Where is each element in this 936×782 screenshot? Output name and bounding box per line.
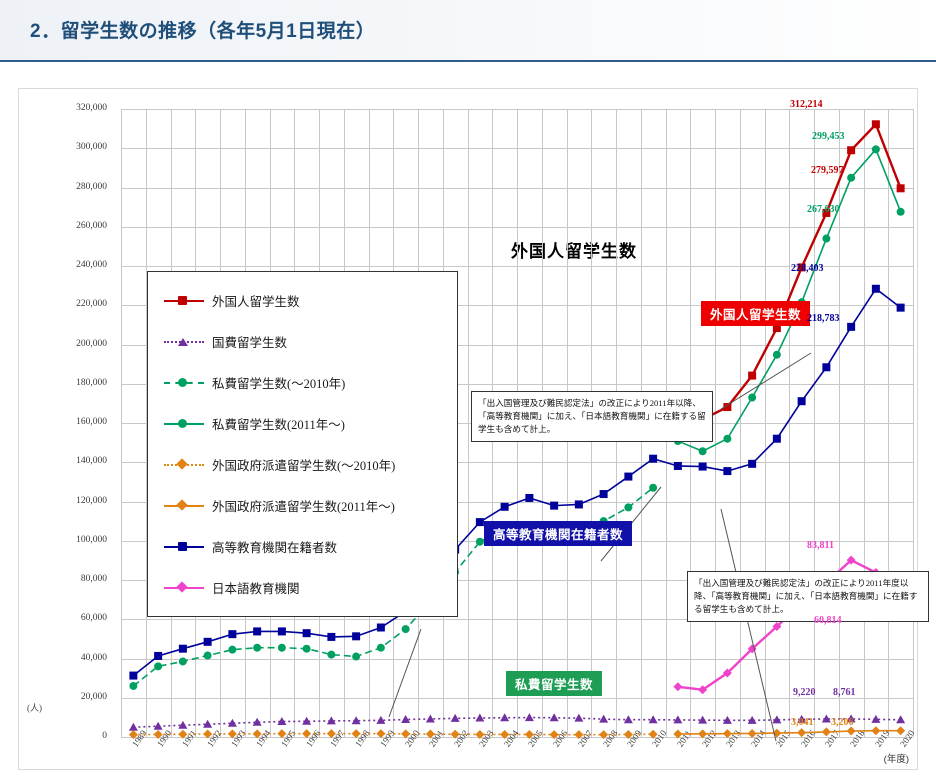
y-axis-tick-label: 120,000 <box>27 496 107 506</box>
data-point-marker <box>327 651 335 659</box>
data-point-marker <box>723 435 731 443</box>
data-point-marker <box>872 120 880 128</box>
value-label-0: 312,214 <box>790 99 823 110</box>
legend-item-label: 私費留学生数(～2010年) <box>212 373 345 392</box>
legend-key-swatch <box>162 417 206 431</box>
data-point-marker <box>500 713 509 721</box>
data-point-marker <box>154 662 162 670</box>
y-axis-tick-label: 0 <box>27 731 107 741</box>
page-title: 2．留学生数の推移（各年5月1日現在） <box>30 16 375 43</box>
callout-foreign-students: 外国人留学生数 <box>701 301 810 326</box>
data-point-marker <box>377 644 385 652</box>
legend-item-4: 外国政府派遣留学生数(～2010年) <box>148 444 457 485</box>
data-point-marker <box>376 729 385 738</box>
data-point-marker <box>822 363 830 371</box>
legend-key-swatch <box>162 581 206 595</box>
legend-marker <box>176 458 187 469</box>
y-axis-tick-label: 200,000 <box>27 339 107 349</box>
callout-leader-line <box>721 509 776 741</box>
y-axis-tick-label: 80,000 <box>27 574 107 584</box>
y-axis-tick-label: 240,000 <box>27 260 107 270</box>
data-point-marker <box>377 623 385 631</box>
legend-item-label: 国費留学生数 <box>212 332 287 351</box>
data-point-marker <box>897 304 905 312</box>
y-axis-tick-label: 280,000 <box>27 182 107 192</box>
legend-marker <box>178 296 187 305</box>
data-point-marker <box>847 174 855 182</box>
data-point-marker <box>228 630 236 638</box>
data-point-marker <box>402 625 410 633</box>
data-point-marker <box>129 682 137 690</box>
data-point-marker <box>327 633 335 641</box>
note-box-1: 「出入国管理及び難民認定法」の改正により2011年以降、「高等教育機関」に加え、… <box>471 391 713 442</box>
y-axis-tick-label: 140,000 <box>27 456 107 466</box>
value-label-6: 83,811 <box>807 540 834 551</box>
data-point-marker <box>822 727 831 736</box>
legend-key-swatch <box>162 376 206 390</box>
legend-marker <box>176 581 187 592</box>
data-point-marker <box>204 638 212 646</box>
legend-marker <box>178 338 188 346</box>
data-point-marker <box>253 627 261 635</box>
value-label-3: 267,630 <box>807 204 840 215</box>
data-point-marker <box>575 500 583 508</box>
series-外国人留学生数 <box>674 120 905 423</box>
data-point-marker <box>550 502 558 510</box>
data-point-marker <box>475 713 484 721</box>
data-point-marker <box>723 467 731 475</box>
legend-key-swatch <box>162 458 206 472</box>
series-line <box>133 718 900 728</box>
legend-marker <box>178 542 187 551</box>
legend-key-swatch <box>162 499 206 513</box>
data-point-marker <box>699 463 707 471</box>
value-label-1: 299,453 <box>812 131 845 142</box>
data-point-marker <box>204 652 212 660</box>
legend-item-label: 私費留学生数(2011年～) <box>212 414 345 433</box>
data-point-marker <box>303 629 311 637</box>
data-point-marker <box>624 473 632 481</box>
series-国費留学生数 <box>129 713 905 731</box>
data-point-marker <box>624 503 632 511</box>
data-point-marker <box>872 285 880 293</box>
callout-higher-education: 高等教育機関在籍者数 <box>484 521 632 546</box>
data-point-marker <box>574 714 583 722</box>
data-point-marker <box>179 657 187 665</box>
note-box-2: 「出入国管理及び難民認定法」の改正により2011年度以降、「高等教育機関」に加え… <box>687 571 929 622</box>
data-point-marker <box>129 672 137 680</box>
data-point-marker <box>871 726 880 735</box>
value-label-7: 60,814 <box>814 615 842 626</box>
legend-item-label: 外国人留学生数 <box>212 291 300 310</box>
legend-item-7: 日本語教育機関 <box>148 567 457 608</box>
data-point-marker <box>550 713 559 721</box>
data-point-marker <box>327 729 336 738</box>
data-point-marker <box>847 323 855 331</box>
data-point-marker <box>278 627 286 635</box>
legend-marker <box>176 499 187 510</box>
data-point-marker <box>773 351 781 359</box>
data-point-marker <box>649 455 657 463</box>
data-point-marker <box>822 235 830 243</box>
data-point-marker <box>748 372 756 380</box>
data-point-marker <box>674 462 682 470</box>
data-point-marker <box>896 726 905 735</box>
data-point-marker <box>600 490 608 498</box>
data-point-marker <box>773 435 781 443</box>
data-point-marker <box>154 652 162 660</box>
data-point-marker <box>872 145 880 153</box>
data-point-marker <box>476 538 484 546</box>
y-axis-tick-label: 180,000 <box>27 378 107 388</box>
data-point-marker <box>129 723 138 731</box>
value-label-5: 218,783 <box>807 313 840 324</box>
legend-item-label: 日本語教育機関 <box>212 578 300 597</box>
page-header: 2．留学生数の推移（各年5月1日現在） <box>0 0 936 62</box>
y-axis-unit-label: (人) <box>27 701 42 714</box>
value-label-10: 3,041 <box>791 717 814 728</box>
data-point-marker <box>277 729 286 738</box>
y-axis-tick-label: 160,000 <box>27 417 107 427</box>
data-point-marker <box>278 644 286 652</box>
data-point-marker <box>897 208 905 216</box>
callout-private-funded: 私費留学生数 <box>506 671 602 696</box>
series-外国政府派遣留学生数(2011年～) <box>673 726 905 738</box>
data-point-marker <box>525 713 534 721</box>
data-point-marker <box>352 729 361 738</box>
legend-item-0: 外国人留学生数 <box>148 280 457 321</box>
data-point-marker <box>673 682 682 691</box>
legend-item-label: 外国政府派遣留学生数(2011年～) <box>212 496 395 515</box>
data-point-marker <box>797 728 806 737</box>
legend-item-label: 高等教育機関在籍者数 <box>212 537 337 556</box>
legend-key-swatch <box>162 540 206 554</box>
data-point-marker <box>897 184 905 192</box>
data-point-marker <box>525 494 533 502</box>
y-axis-tick-label: 300,000 <box>27 142 107 152</box>
data-point-marker <box>699 447 707 455</box>
chart-legend: 外国人留学生数国費留学生数私費留学生数(～2010年)私費留学生数(2011年～… <box>147 271 458 617</box>
legend-item-2: 私費留学生数(～2010年) <box>148 362 457 403</box>
data-point-marker <box>303 645 311 653</box>
legend-key-swatch <box>162 294 206 308</box>
data-point-marker <box>624 715 633 723</box>
data-point-marker <box>896 715 905 723</box>
legend-marker <box>178 419 187 428</box>
y-axis-tick-label: 60,000 <box>27 613 107 623</box>
legend-item-3: 私費留学生数(2011年～) <box>148 403 457 444</box>
y-axis-tick-label: 40,000 <box>27 653 107 663</box>
data-point-marker <box>748 460 756 468</box>
data-point-marker <box>253 644 261 652</box>
legend-item-6: 高等教育機関在籍者数 <box>148 526 457 567</box>
legend-item-5: 外国政府派遣留学生数(2011年～) <box>148 485 457 526</box>
data-point-marker <box>723 729 732 738</box>
data-point-marker <box>228 646 236 654</box>
data-point-marker <box>748 729 757 738</box>
y-axis-tick-label: 320,000 <box>27 103 107 113</box>
value-label-4: 228,403 <box>791 263 824 274</box>
legend-key-swatch <box>162 335 206 349</box>
legend-item-1: 国費留学生数 <box>148 321 457 362</box>
data-point-marker <box>179 645 187 653</box>
callout-leader-line <box>721 353 811 409</box>
legend-marker <box>178 378 187 387</box>
data-point-marker <box>352 632 360 640</box>
y-axis-tick-label: 20,000 <box>27 692 107 702</box>
data-point-marker <box>476 518 484 526</box>
data-point-marker <box>302 729 311 738</box>
legend-item-label: 外国政府派遣留学生数(～2010年) <box>212 455 395 474</box>
series-line <box>678 124 901 419</box>
data-point-marker <box>599 715 608 723</box>
data-point-marker <box>649 484 657 492</box>
callout-leader-line <box>389 629 421 717</box>
data-point-marker <box>501 503 509 511</box>
data-point-marker <box>847 146 855 154</box>
data-point-marker <box>798 397 806 405</box>
y-axis-tick-label: 220,000 <box>27 299 107 309</box>
y-axis-tick-label: 260,000 <box>27 221 107 231</box>
chart-container: 外国人留学生数 (人) (年度) 020,00040,00060,00080,0… <box>18 88 918 770</box>
series-line <box>678 731 901 734</box>
x-axis-unit-label: (年度) <box>884 751 909 765</box>
value-label-9: 8,761 <box>833 687 856 698</box>
data-point-marker <box>352 653 360 661</box>
gridline-vertical <box>913 109 914 737</box>
y-axis-tick-label: 100,000 <box>27 535 107 545</box>
value-label-11: 3,206 <box>831 717 854 728</box>
value-label-2: 279,597 <box>811 165 844 176</box>
value-label-8: 9,220 <box>793 687 816 698</box>
data-point-marker <box>748 393 756 401</box>
